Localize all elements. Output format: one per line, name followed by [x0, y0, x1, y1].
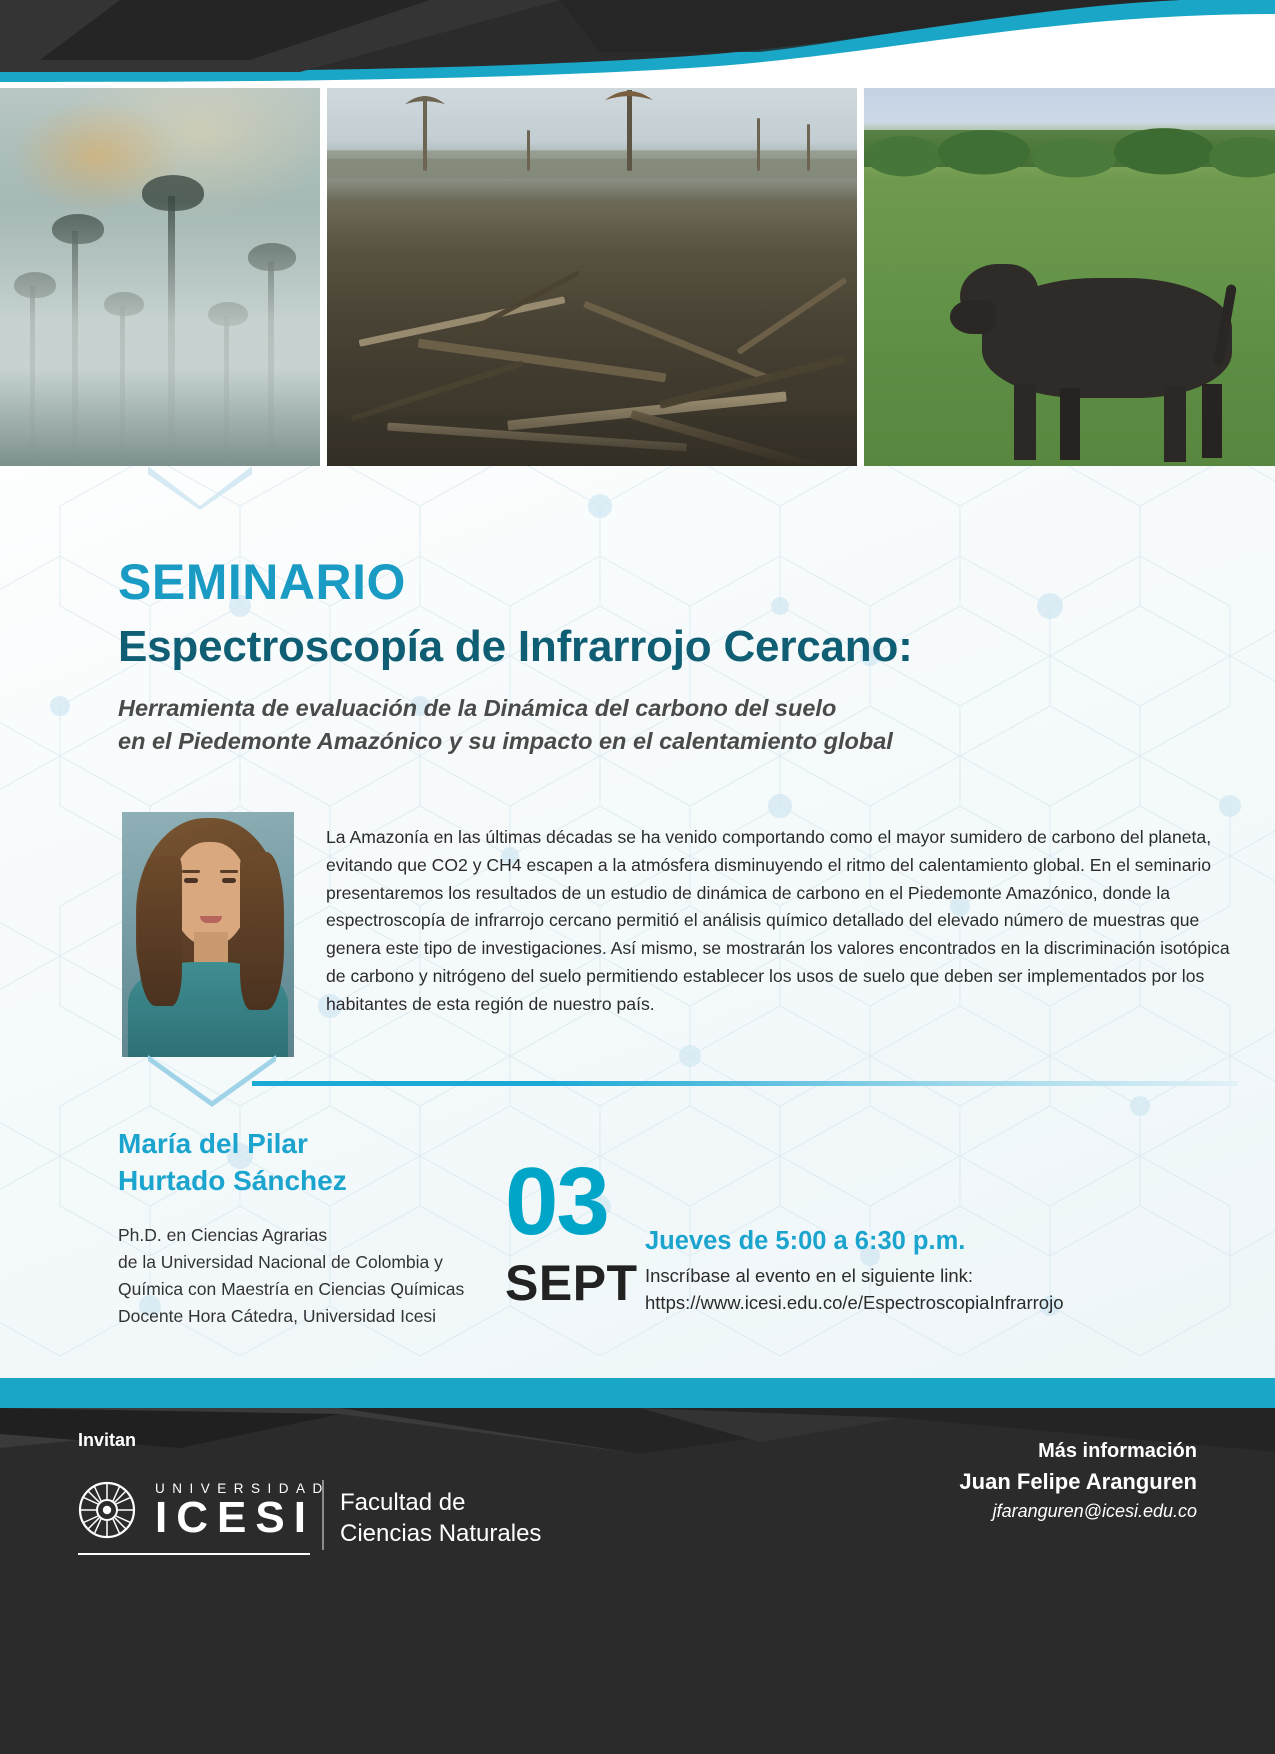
- page-title: Espectroscopía de Infrarrojo Cercano:: [118, 622, 913, 672]
- page-subtitle: Herramienta de evaluación de la Dinámica…: [118, 692, 893, 759]
- event-day: 03: [505, 1158, 608, 1246]
- faculty-line-1: Facultad de: [340, 1488, 541, 1519]
- photo-cleared-land: [327, 88, 857, 466]
- icesi-name: ICESI: [152, 1496, 330, 1540]
- hero-photo-strip: [0, 88, 1275, 466]
- subtitle-line-2: en el Piedemonte Amazónico y su impacto …: [118, 725, 893, 758]
- credential-line-1: Ph.D. en Ciencias Agrarias: [118, 1222, 464, 1249]
- contact-block: Más información Juan Felipe Aranguren jf…: [959, 1440, 1197, 1522]
- chevron-divider-mid: [148, 1055, 276, 1107]
- more-info-label: Más información: [959, 1440, 1197, 1463]
- top-header-band: [0, 0, 1275, 90]
- event-time: Jueves de 5:00 a 6:30 p.m.: [645, 1227, 965, 1256]
- contact-name: Juan Felipe Aranguren: [959, 1469, 1197, 1495]
- header-decoration: [0, 0, 1275, 90]
- credential-line-3: Química con Maestría en Ciencias Química…: [118, 1276, 464, 1303]
- section-divider-rule: [252, 1081, 1238, 1086]
- pasture-treeline: [864, 118, 1275, 178]
- credential-line-4: Docente Hora Cátedra, Universidad Icesi: [118, 1303, 464, 1330]
- registration-label: Inscríbase al evento en el siguiente lin…: [645, 1262, 1064, 1289]
- speaker-portrait: [122, 812, 294, 1057]
- faculty-line-2: Ciencias Naturales: [340, 1519, 541, 1550]
- footer-accent-bar: [0, 1378, 1275, 1408]
- page-kicker: SEMINARIO: [118, 553, 406, 611]
- subtitle-line-1: Herramienta de evaluación de la Dinámica…: [118, 692, 893, 725]
- registration-link[interactable]: https://www.icesi.edu.co/e/Espectroscopi…: [645, 1289, 1064, 1316]
- speaker-name-line-1: María del Pilar: [118, 1126, 347, 1163]
- logo-underline: [78, 1553, 310, 1555]
- event-month: SEPT: [505, 1254, 638, 1312]
- logo-divider: [322, 1480, 324, 1550]
- faculty-name: Facultad de Ciencias Naturales: [340, 1488, 541, 1549]
- icesi-seal-icon: [78, 1481, 136, 1539]
- speaker-credentials: Ph.D. en Ciencias Agrarias de la Univers…: [118, 1222, 464, 1330]
- speaker-name-line-2: Hurtado Sánchez: [118, 1163, 347, 1200]
- chevron-divider-top: [148, 466, 252, 510]
- icesi-wordmark: UNIVERSIDAD ICESI: [152, 1481, 330, 1540]
- registration-block: Inscríbase al evento en el siguiente lin…: [645, 1262, 1064, 1317]
- credential-line-2: de la Universidad Nacional de Colombia y: [118, 1249, 464, 1276]
- invitan-label: Invitan: [78, 1430, 136, 1451]
- speaker-name: María del Pilar Hurtado Sánchez: [118, 1126, 347, 1200]
- background-treeline: [327, 88, 857, 179]
- contact-email[interactable]: jfaranguren@icesi.edu.co: [959, 1501, 1197, 1522]
- description-paragraph: La Amazonía en las últimas décadas se ha…: [326, 824, 1238, 1019]
- photo-cow-pasture: [864, 88, 1275, 466]
- photo-burning-forest: [0, 88, 320, 466]
